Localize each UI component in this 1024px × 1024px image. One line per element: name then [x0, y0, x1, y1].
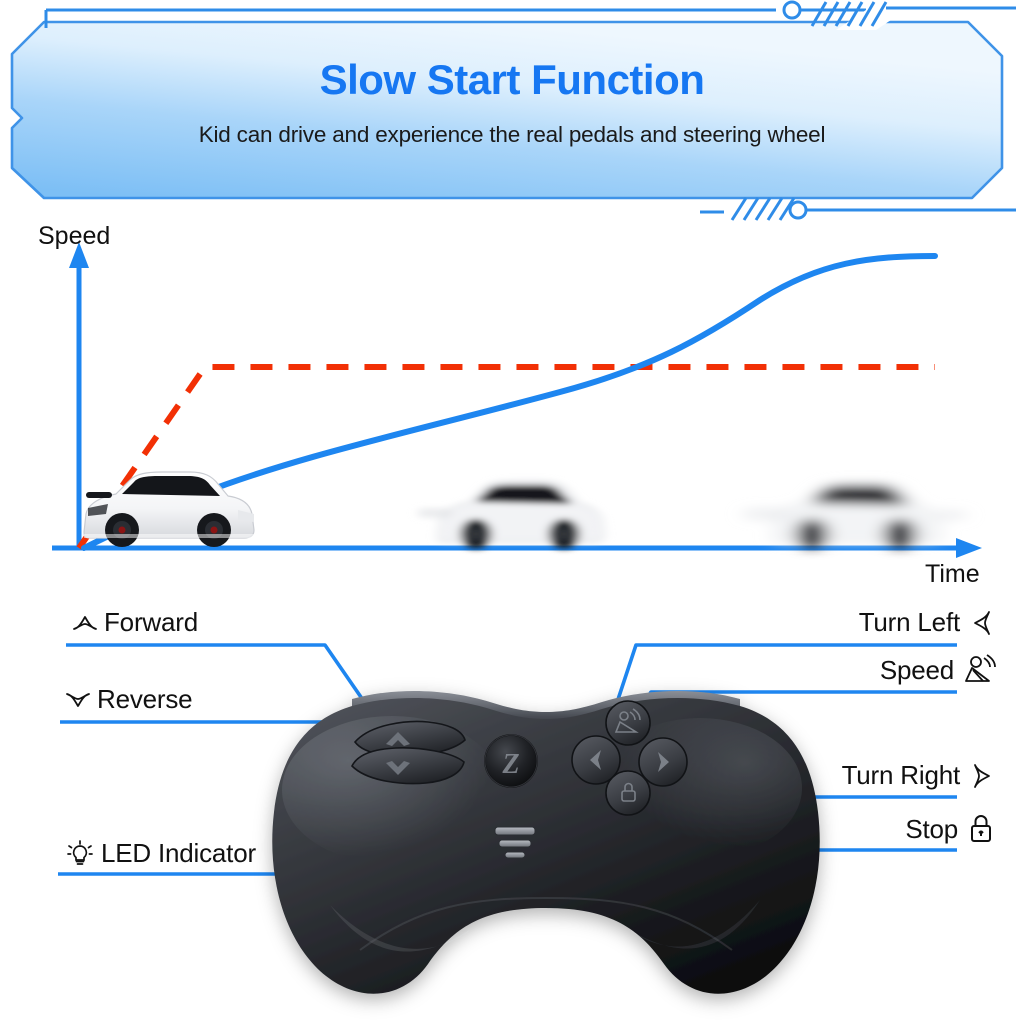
callout-stop-label: Stop	[905, 814, 958, 845]
callout-forward[interactable]: Forward	[70, 607, 198, 638]
callout-forward-label: Forward	[104, 607, 198, 638]
callout-turn-left-label: Turn Left	[859, 607, 960, 638]
signal-pedal-icon	[962, 654, 996, 686]
callout-speed-label: Speed	[880, 655, 954, 686]
button-speed[interactable]	[606, 701, 650, 745]
controller-diagram: Z	[0, 0, 1024, 1024]
callout-turn-left[interactable]: Turn Left	[859, 607, 996, 638]
center-logo-button[interactable]: Z	[485, 735, 537, 787]
chevron-up-outline-icon	[70, 610, 100, 636]
page-root: Slow Start Function Kid can drive and ex…	[0, 0, 1024, 1024]
button-turn-right[interactable]	[639, 738, 687, 786]
chevron-right-outline-icon	[968, 761, 996, 791]
gamepad-body	[272, 691, 819, 994]
callout-turn-right[interactable]: Turn Right	[842, 760, 996, 791]
chevron-down-outline-icon	[63, 687, 93, 713]
center-logo-text: Z	[501, 749, 519, 780]
callout-led[interactable]: LED Indicator	[63, 838, 256, 869]
callout-reverse-label: Reverse	[97, 684, 192, 715]
callout-turn-right-label: Turn Right	[842, 760, 960, 791]
callout-stop[interactable]: Stop	[905, 813, 996, 845]
lightbulb-icon	[63, 839, 97, 869]
button-stop[interactable]	[606, 771, 650, 815]
chevron-left-outline-icon	[968, 608, 996, 638]
callout-speed[interactable]: Speed	[880, 654, 996, 686]
lock-icon	[966, 813, 996, 845]
callout-led-label: LED Indicator	[101, 838, 256, 869]
callout-reverse[interactable]: Reverse	[63, 684, 192, 715]
